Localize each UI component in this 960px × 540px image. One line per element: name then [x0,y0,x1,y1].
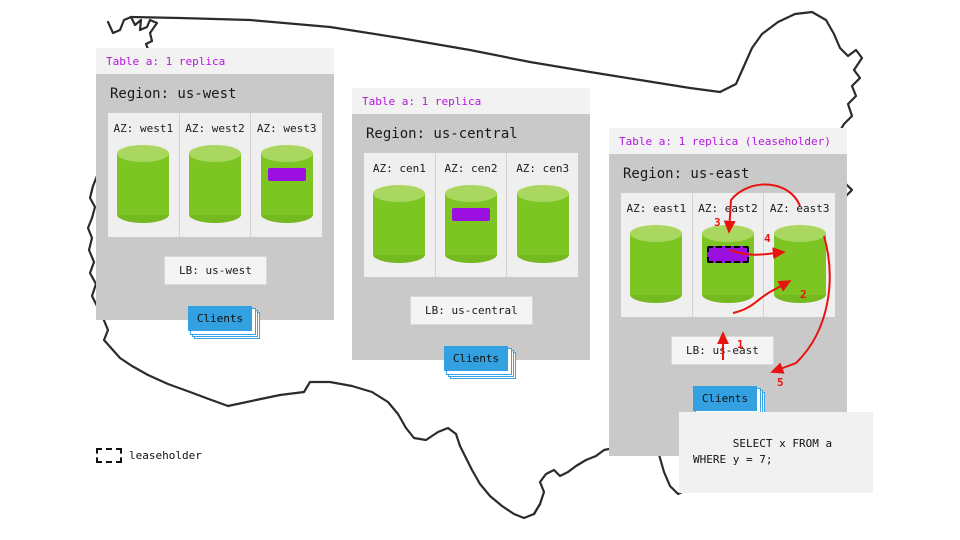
legend: leaseholder [96,448,202,463]
region-panel-us-west: Region: us-west AZ: west1 AZ: west2 [96,74,334,320]
sql-query-text: SELECT x FROM a WHERE y = 7; [693,437,832,466]
region-cluster-us-west: Table a: 1 replica Region: us-west AZ: w… [96,48,334,320]
replica-cylinder-west3[interactable] [261,145,313,223]
cylinder-body [630,233,682,295]
replica-cylinder-cen1[interactable] [373,185,425,263]
az-label: AZ: west3 [257,122,317,135]
az-label: AZ: cen1 [373,162,426,175]
cylinder-top [445,185,497,202]
lb-label: LB: us-east [686,344,759,357]
region-cluster-us-east: Table a: 1 replica (leaseholder) Region:… [609,128,847,456]
sql-query-box: SELECT x FROM a WHERE y = 7; [679,412,873,493]
cylinder-body [774,233,826,295]
cylinder-body [261,153,313,215]
table-banner-label: Table a: 1 replica [106,55,225,68]
az-cell-west3[interactable]: AZ: west3 [251,113,322,237]
clients-us-west[interactable]: Clients [188,306,252,331]
replica-cylinder-east3[interactable] [774,225,826,303]
lb-label: LB: us-central [425,304,518,317]
cylinder-body [373,193,425,255]
lb-label: LB: us-west [179,264,252,277]
cylinder-body [445,193,497,255]
leaseholder-swatch-icon [96,448,122,463]
clients-us-central[interactable]: Clients [444,346,508,371]
replica-cylinder-west2[interactable] [189,145,241,223]
az-label: AZ: cen2 [445,162,498,175]
clients-label: Clients [188,306,252,331]
az-label: AZ: east3 [770,202,830,215]
cylinder-body [189,153,241,215]
cylinder-top [189,145,241,162]
region-title: Region: us-west [110,86,322,102]
cylinder-body [117,153,169,215]
table-banner-label: Table a: 1 replica (leaseholder) [619,135,831,148]
az-row-us-central: AZ: cen1 AZ: cen2 [364,153,578,277]
region-panel-us-east: Region: us-east AZ: east1 AZ: east2 [609,154,847,456]
diagram-canvas: Table a: 1 replica Region: us-west AZ: w… [0,0,960,540]
az-row-us-east: AZ: east1 AZ: east2 [621,193,835,317]
cylinder-body [702,233,754,295]
cylinder-top [261,145,313,162]
region-title: Region: us-central [366,126,578,142]
replica-cylinder-west1[interactable] [117,145,169,223]
cylinder-top [702,225,754,242]
cylinder-top [774,225,826,242]
az-label: AZ: cen3 [516,162,569,175]
az-cell-east1[interactable]: AZ: east1 [621,193,693,317]
table-banner-us-west: Table a: 1 replica [96,48,334,74]
az-cell-cen1[interactable]: AZ: cen1 [364,153,436,277]
az-cell-west2[interactable]: AZ: west2 [180,113,252,237]
clients-label: Clients [444,346,508,371]
legend-label: leaseholder [129,449,202,462]
range-band [268,168,306,181]
cylinder-top [630,225,682,242]
az-label: AZ: west2 [185,122,245,135]
az-label: AZ: east1 [627,202,687,215]
cylinder-body [517,193,569,255]
lb-box-us-central[interactable]: LB: us-central [410,296,533,325]
cylinder-top [117,145,169,162]
replica-cylinder-east2[interactable] [702,225,754,303]
lb-box-us-west[interactable]: LB: us-west [164,256,267,285]
region-cluster-us-central: Table a: 1 replica Region: us-central AZ… [352,88,590,360]
az-row-us-west: AZ: west1 AZ: west2 AZ [108,113,322,237]
range-band [452,208,490,221]
clients-us-east[interactable]: Clients [693,386,757,411]
az-cell-cen3[interactable]: AZ: cen3 [507,153,578,277]
replica-cylinder-east1[interactable] [630,225,682,303]
cylinder-top [373,185,425,202]
az-cell-east2[interactable]: AZ: east2 [693,193,765,317]
region-panel-us-central: Region: us-central AZ: cen1 AZ: cen2 [352,114,590,360]
az-cell-west1[interactable]: AZ: west1 [108,113,180,237]
table-banner-us-central: Table a: 1 replica [352,88,590,114]
az-cell-cen2[interactable]: AZ: cen2 [436,153,508,277]
cylinder-top [517,185,569,202]
table-banner-label: Table a: 1 replica [362,95,481,108]
az-label: AZ: west1 [114,122,174,135]
az-label: AZ: east2 [698,202,758,215]
lb-box-us-east[interactable]: LB: us-east [671,336,774,365]
clients-label: Clients [693,386,757,411]
az-cell-east3[interactable]: AZ: east3 [764,193,835,317]
table-banner-us-east: Table a: 1 replica (leaseholder) [609,128,847,154]
replica-cylinder-cen3[interactable] [517,185,569,263]
region-title: Region: us-east [623,166,835,182]
leaseholder-band [707,246,749,263]
replica-cylinder-cen2[interactable] [445,185,497,263]
